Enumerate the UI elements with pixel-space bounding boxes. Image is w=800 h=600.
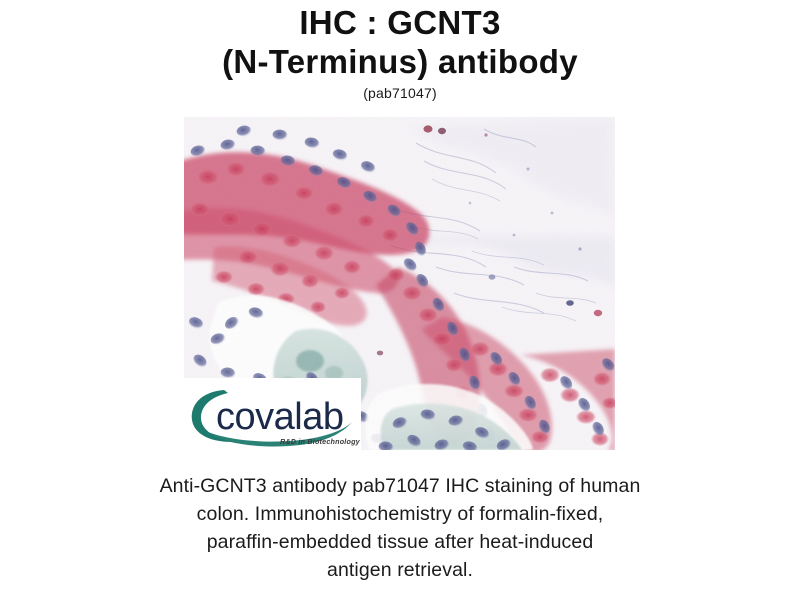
caption-line-2: colon. Immunohistochemistry of formalin-… [60,500,740,528]
caption-line-3: paraffin-embedded tissue after heat-indu… [60,528,740,556]
caption-line-4: antigen retrieval. [60,556,740,584]
page-title-line-2: (N-Terminus) antibody [0,41,800,80]
caption-line-1: Anti-GCNT3 antibody pab71047 IHC stainin… [60,472,740,500]
covalab-logo: covalab R&D in Biotechnology [184,378,361,450]
page-title-line-1: IHC : GCNT3 [0,0,800,41]
catalog-number: (pab71047) [0,80,800,101]
logo-wordmark: covalab [216,396,343,438]
covalab-logo-mark: covalab R&D in Biotechnology [184,378,361,450]
title-block: IHC : GCNT3 (N-Terminus) antibody (pab71… [0,0,800,101]
figure-caption: Anti-GCNT3 antibody pab71047 IHC stainin… [60,472,740,584]
product-image-card: IHC : GCNT3 (N-Terminus) antibody (pab71… [0,0,800,600]
logo-tagline: R&D in Biotechnology [280,437,361,446]
